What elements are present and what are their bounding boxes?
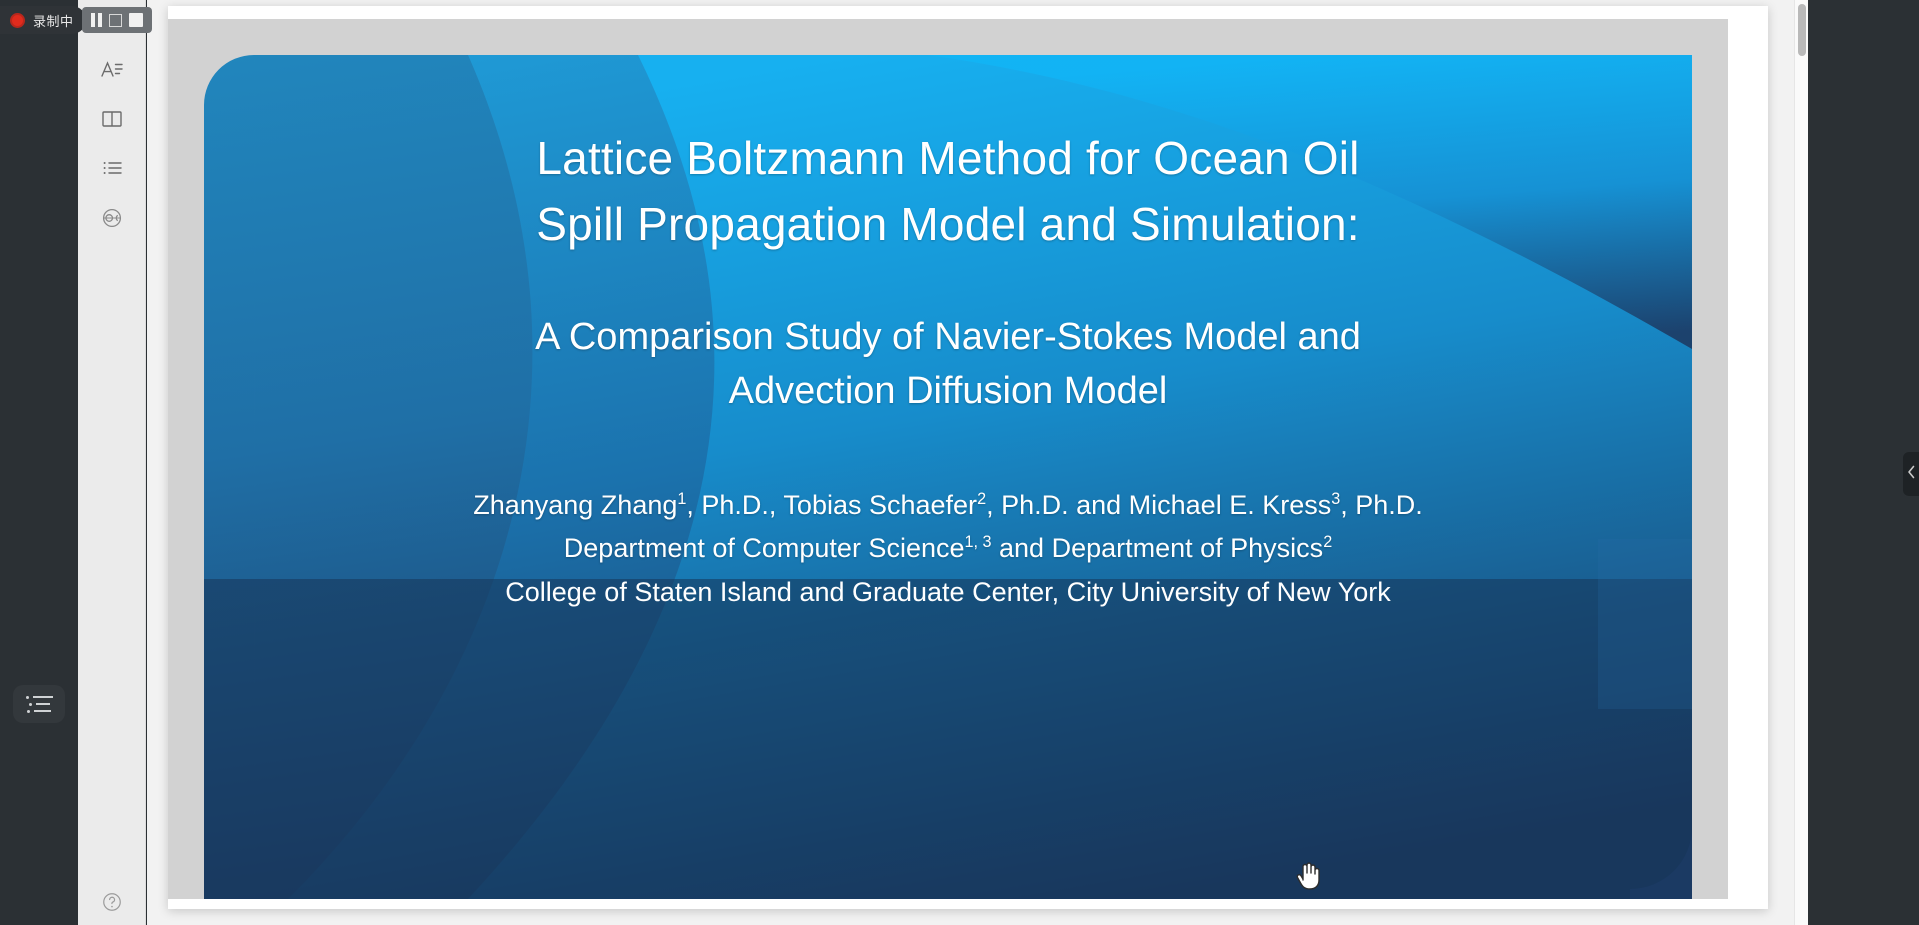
recording-pill: 录制中 (0, 6, 86, 34)
list-icon (100, 156, 124, 180)
document-viewport[interactable]: Lattice Boltzmann Method for Ocean Oil S… (147, 0, 1808, 925)
question-circle-icon (101, 891, 123, 913)
sidebar-item-text-format[interactable] (78, 48, 146, 92)
slide-title-line-1: Lattice Boltzmann Method for Ocean Oil (293, 126, 1603, 191)
sidebar-item-outline[interactable] (78, 146, 146, 190)
rail-outline-toggle[interactable] (0, 683, 78, 725)
book-icon (100, 107, 124, 131)
left-rail (0, 0, 78, 925)
author-names-1: Zhanyang Zhang (473, 490, 677, 520)
recording-indicator: 录制中 (0, 0, 160, 40)
department-text-1: Department of Computer Science (564, 533, 965, 563)
recording-controls (82, 7, 152, 33)
author-names-3: , Ph.D. and Michael E. Kress (986, 490, 1331, 520)
slide-subtitle-line-1: A Comparison Study of Navier-Stokes Mode… (293, 311, 1603, 365)
sidebar-item-help[interactable] (78, 880, 146, 924)
recording-status-label: 录制中 (33, 11, 74, 30)
slide-subtitle-line-2: Advection Diffusion Model (293, 365, 1603, 419)
author-superscript-3: 3 (1331, 490, 1340, 508)
slide-subtitle: A Comparison Study of Navier-Stokes Mode… (293, 311, 1603, 419)
slide-title-line-2: Spill Propagation Model and Simulation: (293, 192, 1603, 257)
window-icon[interactable] (109, 14, 122, 27)
author-superscript-2: 2 (977, 490, 986, 508)
text-format-icon (100, 58, 124, 82)
stop-icon[interactable] (129, 13, 143, 27)
author-line: Zhanyang Zhang1, Ph.D., Tobias Schaefer2… (246, 484, 1650, 528)
tool-sidebar (78, 0, 146, 925)
author-names-2: , Ph.D., Tobias Schaefer (686, 490, 977, 520)
vertical-scrollbar[interactable] (1794, 0, 1808, 925)
pause-icon[interactable] (91, 13, 102, 27)
slide-canvas[interactable]: Lattice Boltzmann Method for Ocean Oil S… (168, 19, 1728, 899)
chevron-left-icon (1907, 465, 1916, 484)
scrollbar-thumb[interactable] (1798, 4, 1806, 56)
slide-author-block: Zhanyang Zhang1, Ph.D., Tobias Schaefer2… (246, 484, 1650, 615)
author-names-4: , Ph.D. (1340, 490, 1423, 520)
panel-collapse-handle[interactable] (1903, 452, 1919, 496)
list-icon (13, 685, 65, 723)
sidebar-item-reading-mode[interactable] (78, 97, 146, 141)
slide-text-layer: Lattice Boltzmann Method for Ocean Oil S… (168, 19, 1728, 899)
sidebar-item-ocr[interactable] (78, 196, 146, 240)
app-window: Lattice Boltzmann Method for Ocean Oil S… (0, 0, 1919, 925)
affiliation-line: College of Staten Island and Graduate Ce… (246, 571, 1650, 615)
department-line: Department of Computer Science1, 3 and D… (246, 527, 1650, 571)
record-dot-icon (10, 13, 25, 28)
slide-title: Lattice Boltzmann Method for Ocean Oil S… (293, 126, 1603, 257)
department-superscript-2: 2 (1323, 533, 1332, 551)
department-text-2: and Department of Physics (992, 533, 1324, 563)
department-superscript-1: 1, 3 (965, 533, 992, 551)
ocr-icon (100, 206, 124, 230)
